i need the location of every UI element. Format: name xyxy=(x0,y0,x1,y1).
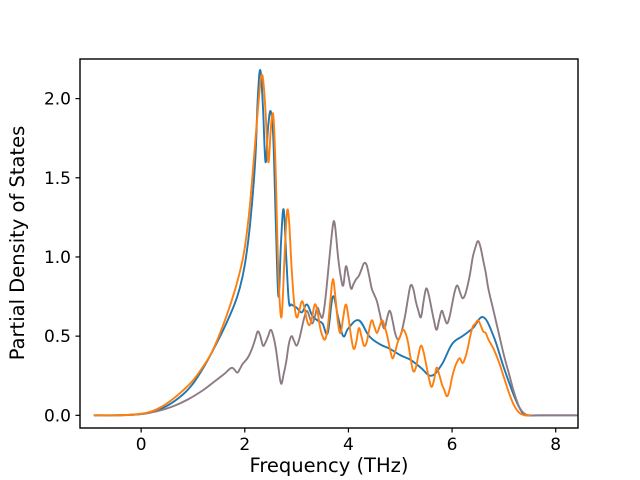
x-tick-label: 4 xyxy=(343,435,354,455)
y-tick-label: 0.5 xyxy=(44,327,71,347)
figure-background xyxy=(0,0,640,480)
y-tick-label: 0.0 xyxy=(44,406,71,426)
y-tick-label: 1.5 xyxy=(44,169,71,189)
x-tick-label: 0 xyxy=(136,435,147,455)
x-tick-label: 8 xyxy=(550,435,561,455)
x-axis-title: Frequency (THz) xyxy=(250,454,409,477)
y-tick-label: 1.0 xyxy=(44,248,71,268)
y-axis-title: Partial Density of States xyxy=(6,126,29,361)
x-tick-label: 2 xyxy=(239,435,250,455)
figure-canvas: 024680.00.51.01.52.0 Frequency (THz) Par… xyxy=(0,0,640,480)
partial-dos-line-chart: 024680.00.51.01.52.0 Frequency (THz) Par… xyxy=(0,0,640,480)
y-tick-label: 2.0 xyxy=(44,90,71,110)
x-tick-label: 6 xyxy=(447,435,458,455)
